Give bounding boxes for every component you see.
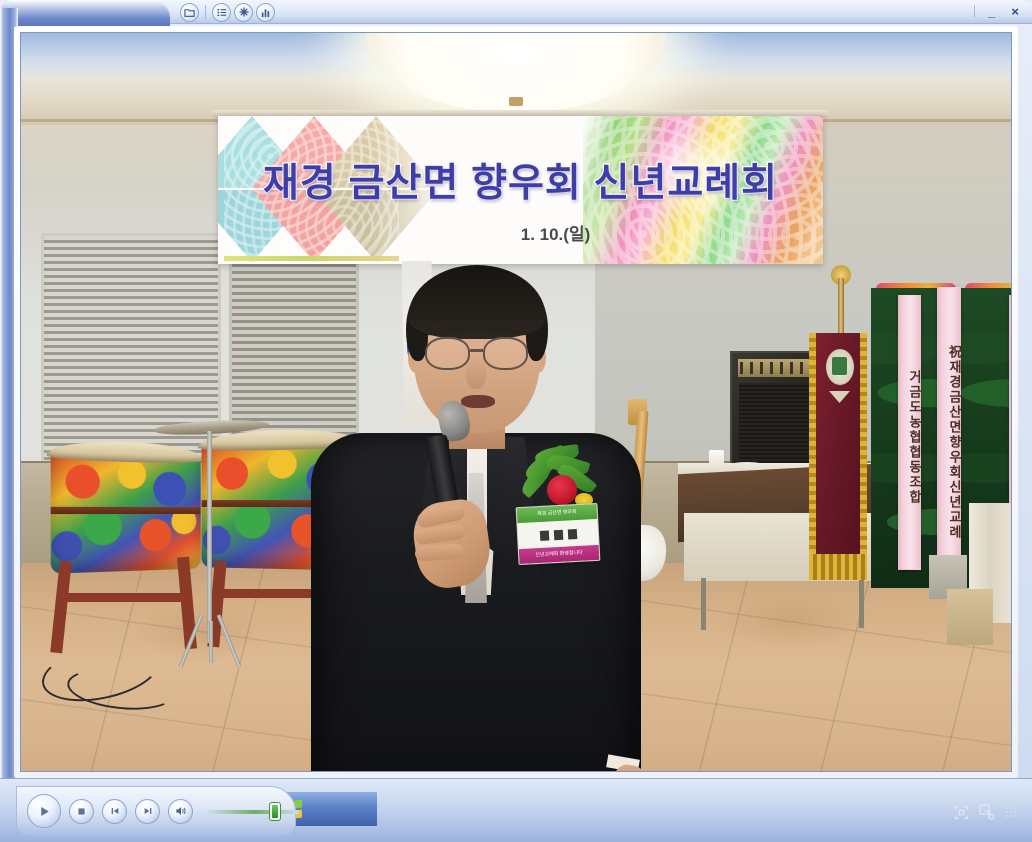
banner-bottom-bar: [224, 256, 399, 261]
eyeglass-bridge: [470, 349, 483, 352]
fullscreen-icon[interactable]: [954, 805, 969, 820]
cymbal-stand-pole: [207, 431, 212, 643]
media-player-window: _ ×: [0, 0, 1032, 842]
volume-track: [207, 810, 299, 814]
now-playing-icon[interactable]: [180, 3, 199, 22]
banner-date: 1. 10.(일): [218, 220, 823, 245]
play-button[interactable]: [27, 794, 61, 828]
flag-emblem-inner: [832, 357, 847, 375]
table-leg: [859, 576, 864, 628]
paper-bag: [947, 589, 993, 645]
drum-band-left: [51, 507, 201, 514]
cymbal-stand-leg: [209, 621, 213, 663]
title-bar[interactable]: [150, 0, 1032, 24]
title-bar-left-cap: [0, 0, 170, 26]
eyeglass-lens-right: [483, 337, 528, 370]
hair: [408, 265, 546, 339]
video-scene: 재경 금산면 향우회 신년교례회 1. 10.(일): [21, 33, 1011, 771]
ceremonial-flag-pole: [838, 278, 844, 338]
stop-button[interactable]: [69, 799, 94, 824]
effects-icon[interactable]: [234, 3, 253, 22]
next-button[interactable]: [135, 799, 160, 824]
resize-grip[interactable]: [1005, 806, 1018, 819]
playlist-icon[interactable]: [212, 3, 231, 22]
volume-thumb[interactable]: [269, 802, 281, 821]
minimize-button[interactable]: _: [985, 3, 998, 20]
name-badge-footer: 신년교례회 환영합니다: [519, 545, 600, 564]
dome-light-stem: [509, 97, 523, 106]
name-badge-footer-text: 신년교례회 환영합니다: [519, 545, 600, 564]
window-blinds-left: [41, 233, 221, 473]
window-buttons: _ ×: [974, 1, 1022, 21]
eyeglass-lens-left: [425, 337, 470, 370]
video-surface[interactable]: 재경 금산면 향우회 신년교례회 1. 10.(일): [20, 32, 1012, 772]
close-button[interactable]: ×: [1008, 3, 1022, 20]
mute-button[interactable]: [168, 799, 193, 824]
event-banner: 재경 금산면 향우회 신년교례회 1. 10.(일): [218, 116, 823, 264]
window-buttons-divider: [974, 5, 975, 18]
name-badge-glyph: [539, 531, 549, 541]
table-leg: [701, 578, 706, 630]
control-bar-right: [954, 804, 1018, 820]
korean-drum-left: [51, 450, 201, 573]
name-badge-glyph: [567, 529, 577, 539]
drum-stand-bar: [59, 593, 189, 602]
flag-fringe-bottom: [809, 554, 867, 580]
name-badge: 재경 금산면 향우회 신년교례회 환영합니다: [516, 503, 601, 565]
titlebar-toolbar: [180, 2, 275, 22]
playback-control-bar: [0, 778, 1032, 842]
wreath-ribbon: 거금도농협협동조합: [898, 295, 921, 570]
wreath-ribbon: 祝재경금산면향우회신년교례: [937, 287, 961, 587]
banner-title: 재경 금산면 향우회 신년교례회: [218, 152, 823, 208]
video-bevel: 재경 금산면 향우회 신년교례회 1. 10.(일): [14, 26, 1018, 778]
corsage-rose: [547, 475, 577, 505]
nose: [466, 357, 486, 389]
toolbar-divider: [205, 5, 206, 19]
transport-controls: [16, 786, 296, 836]
volume-slider[interactable]: [207, 803, 299, 819]
previous-button[interactable]: [102, 799, 127, 824]
speaker-person: 재경 금산면 향우회 신년교례회 환영합니다: [311, 265, 641, 771]
skin-mode-icon[interactable]: [979, 804, 995, 820]
mouth: [461, 395, 495, 408]
equalizer-icon[interactable]: [256, 3, 275, 22]
name-badge-glyph: [553, 530, 563, 540]
